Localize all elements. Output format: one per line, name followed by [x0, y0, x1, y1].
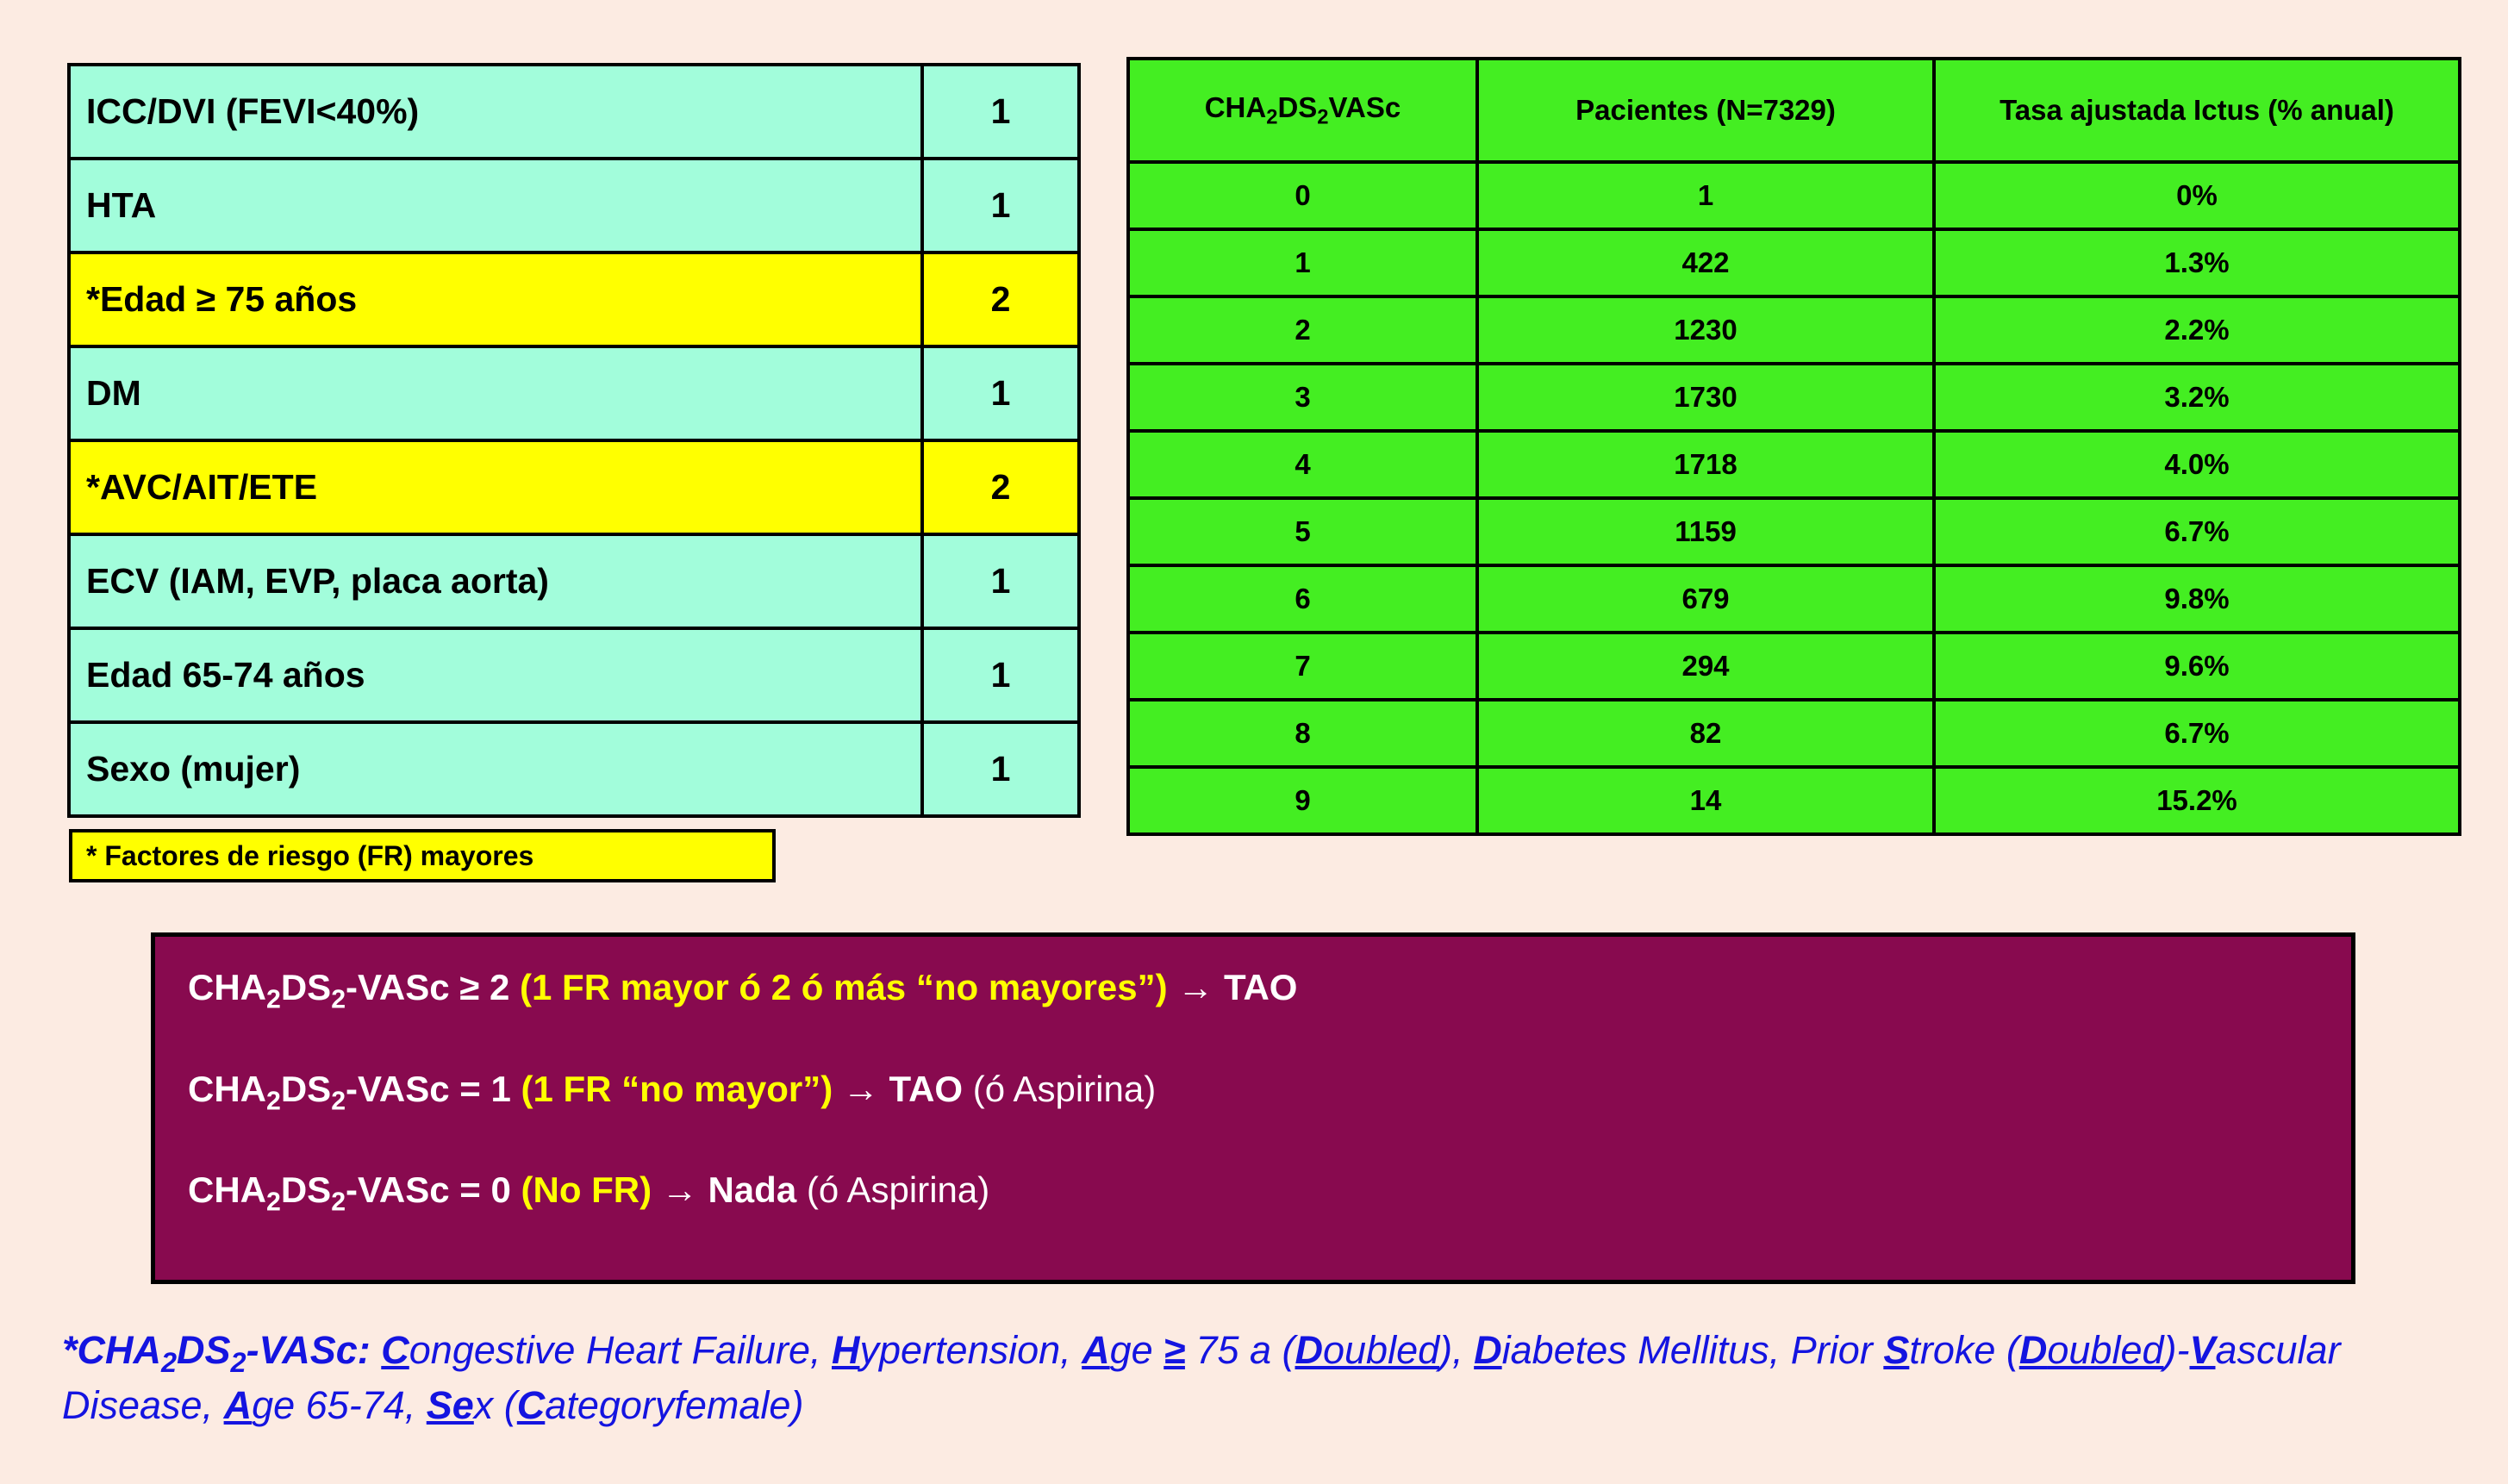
recommendation-box: CHA2DS2-VASc ≥ 2 (1 FR mayor ó 2 ó más “… — [151, 932, 2355, 1284]
cell-patients: 1718 — [1477, 431, 1934, 498]
rec-2-space2 — [879, 1069, 889, 1109]
table-row: 5 1159 6.7% — [1128, 498, 2460, 565]
acronym-legend: *CHA2DS2-VASc: Congestive Heart Failure,… — [62, 1325, 2406, 1431]
recommendation-line-1: CHA2DS2-VASc ≥ 2 (1 FR mayor ó 2 ó más “… — [188, 970, 2351, 1013]
risk-factor-table: ICC/DVI (FEVI<40%) 1 HTA 1 *Edad ≥ 75 añ… — [67, 63, 1081, 818]
legend-cap-a1: A — [1082, 1328, 1110, 1372]
cell-score: 7 — [1128, 633, 1477, 700]
cell-patients: 1230 — [1477, 296, 1934, 364]
rec-3-highlight: (No FR) — [521, 1169, 652, 1210]
table-row: 3 1730 3.2% — [1128, 364, 2460, 431]
risk-factor-label: HTA — [69, 159, 922, 253]
column-header-patients: Pacientes (N=7329) — [1477, 59, 1934, 162]
risk-factor-label: ICC/DVI (FEVI<40%) — [69, 65, 922, 159]
cell-score: 4 — [1128, 431, 1477, 498]
rec-3-action: Nada — [708, 1169, 796, 1210]
rec-2-prefix: CHA2DS2-VASc = 1 — [188, 1069, 521, 1109]
legend-ge-symbol: ≥ — [1164, 1328, 1185, 1372]
legend-cap-d2: D — [1474, 1328, 1502, 1372]
risk-factor-label: DM — [69, 346, 922, 440]
cell-score: 9 — [1128, 767, 1477, 834]
cell-rate: 6.7% — [1934, 700, 2460, 767]
column-header-score: CHA2DS2VASc — [1128, 59, 1477, 162]
risk-factor-label: *Edad ≥ 75 años — [69, 253, 922, 346]
table-row: 6 679 9.8% — [1128, 565, 2460, 633]
risk-factor-score: 2 — [922, 440, 1079, 534]
rec-1-action-wrap — [1213, 967, 1224, 1007]
legend-lead: *CHA2DS2-VASc: — [62, 1328, 371, 1372]
cell-patients: 294 — [1477, 633, 1934, 700]
cell-rate: 15.2% — [1934, 767, 2460, 834]
cell-rate: 0% — [1934, 162, 2460, 229]
table-header-row: CHA2DS2VASc Pacientes (N=7329) Tasa ajus… — [1128, 59, 2460, 162]
rec-3-prefix: CHA2DS2-VASc = 0 — [188, 1169, 521, 1210]
cell-rate: 1.3% — [1934, 229, 2460, 296]
cell-score: 6 — [1128, 565, 1477, 633]
cell-rate: 4.0% — [1934, 431, 2460, 498]
cell-rate: 6.7% — [1934, 498, 2460, 565]
table-row: 2 1230 2.2% — [1128, 296, 2460, 364]
rec-3-space — [652, 1169, 662, 1210]
table-row: DM 1 — [69, 346, 1079, 440]
cell-rate: 9.8% — [1934, 565, 2460, 633]
risk-factor-label: *AVC/AIT/ETE — [69, 440, 922, 534]
risk-factor-score: 1 — [922, 534, 1079, 628]
legend-cap-se: Se — [427, 1383, 474, 1427]
table-row: ECV (IAM, EVP, placa aorta) 1 — [69, 534, 1079, 628]
column-header-rate: Tasa ajustada Ictus (% anual) — [1934, 59, 2460, 162]
rec-3-space2 — [698, 1169, 708, 1210]
cell-patients: 1 — [1477, 162, 1934, 229]
rec-1-arrow — [1168, 967, 1178, 1007]
cell-patients: 422 — [1477, 229, 1934, 296]
legend-cap-c: C — [381, 1328, 409, 1372]
major-risk-factor-note-label: * Factores de riesgo (FR) mayores — [86, 840, 533, 872]
legend-cap-s1: S — [1883, 1328, 1909, 1372]
stroke-rate-table: CHA2DS2VASc Pacientes (N=7329) Tasa ajus… — [1126, 57, 2461, 836]
cell-rate: 9.6% — [1934, 633, 2460, 700]
recommendation-line-3: CHA2DS2-VASc = 0 (No FR) → Nada (ó Aspir… — [188, 1172, 2351, 1216]
arrow-icon: → — [662, 1169, 698, 1210]
rec-2-suffix: (ó Aspirina) — [973, 1069, 1156, 1109]
risk-factor-score: 1 — [922, 346, 1079, 440]
cell-patients: 14 — [1477, 767, 1934, 834]
table-row-major: *AVC/AIT/ETE 2 — [69, 440, 1079, 534]
cell-patients: 679 — [1477, 565, 1934, 633]
risk-factor-score: 1 — [922, 159, 1079, 253]
risk-factor-score: 2 — [922, 253, 1079, 346]
cell-patients: 1730 — [1477, 364, 1934, 431]
rec-3-suffix: (ó Aspirina) — [807, 1169, 989, 1210]
legend-cap-d3: D — [2019, 1328, 2048, 1372]
risk-factor-label: ECV (IAM, EVP, placa aorta) — [69, 534, 922, 628]
risk-factor-label: Sexo (mujer) — [69, 722, 922, 816]
arrow-icon: → — [1177, 967, 1213, 1007]
major-risk-factor-note: * Factores de riesgo (FR) mayores — [69, 829, 776, 882]
table-row: Edad 65-74 años 1 — [69, 628, 1079, 722]
table-row: 1 422 1.3% — [1128, 229, 2460, 296]
legend-cap-c2: C — [517, 1383, 546, 1427]
rec-1-highlight: (1 FR mayor ó 2 ó más “no mayores”) — [520, 967, 1168, 1007]
table-row: ICC/DVI (FEVI<40%) 1 — [69, 65, 1079, 159]
cell-score: 2 — [1128, 296, 1477, 364]
risk-factor-label: Edad 65-74 años — [69, 628, 922, 722]
cell-score: 5 — [1128, 498, 1477, 565]
arrow-icon: → — [843, 1069, 879, 1109]
rec-1-action: TAO — [1224, 967, 1298, 1007]
rec-1-prefix: CHA2DS2-VASc ≥ 2 — [188, 967, 520, 1007]
legend-cap-v: V — [2189, 1328, 2215, 1372]
legend-cap-h: H — [832, 1328, 860, 1372]
table-row: 0 1 0% — [1128, 162, 2460, 229]
legend-doubled-1: Doubled — [1295, 1328, 1440, 1372]
table-row: HTA 1 — [69, 159, 1079, 253]
table-row: Sexo (mujer) 1 — [69, 722, 1079, 816]
cell-score: 0 — [1128, 162, 1477, 229]
cell-rate: 3.2% — [1934, 364, 2460, 431]
recommendation-line-2: CHA2DS2-VASc = 1 (1 FR “no mayor”) → TAO… — [188, 1071, 2351, 1115]
cell-patients: 82 — [1477, 700, 1934, 767]
rec-2-space3 — [963, 1069, 973, 1109]
cell-patients: 1159 — [1477, 498, 1934, 565]
cell-score: 8 — [1128, 700, 1477, 767]
rec-3-space3 — [796, 1169, 807, 1210]
rec-2-action: TAO — [889, 1069, 964, 1109]
legend-body: Congestive Heart Failure, Hypertension, … — [62, 1328, 2341, 1427]
rec-2-space — [833, 1069, 843, 1109]
rec-2-highlight: (1 FR “no mayor”) — [521, 1069, 833, 1109]
cell-rate: 2.2% — [1934, 296, 2460, 364]
table-row: 9 14 15.2% — [1128, 767, 2460, 834]
table-row: 8 82 6.7% — [1128, 700, 2460, 767]
cell-score: 3 — [1128, 364, 1477, 431]
table-row: 7 294 9.6% — [1128, 633, 2460, 700]
table-row-major: *Edad ≥ 75 años 2 — [69, 253, 1079, 346]
legend-doubled-2: Doubled — [2019, 1328, 2164, 1372]
risk-factor-score: 1 — [922, 722, 1079, 816]
legend-cap-a2: A — [224, 1383, 253, 1427]
risk-factor-score: 1 — [922, 65, 1079, 159]
cell-score: 1 — [1128, 229, 1477, 296]
legend-cap-d1: D — [1295, 1328, 1324, 1372]
risk-factor-score: 1 — [922, 628, 1079, 722]
table-row: 4 1718 4.0% — [1128, 431, 2460, 498]
